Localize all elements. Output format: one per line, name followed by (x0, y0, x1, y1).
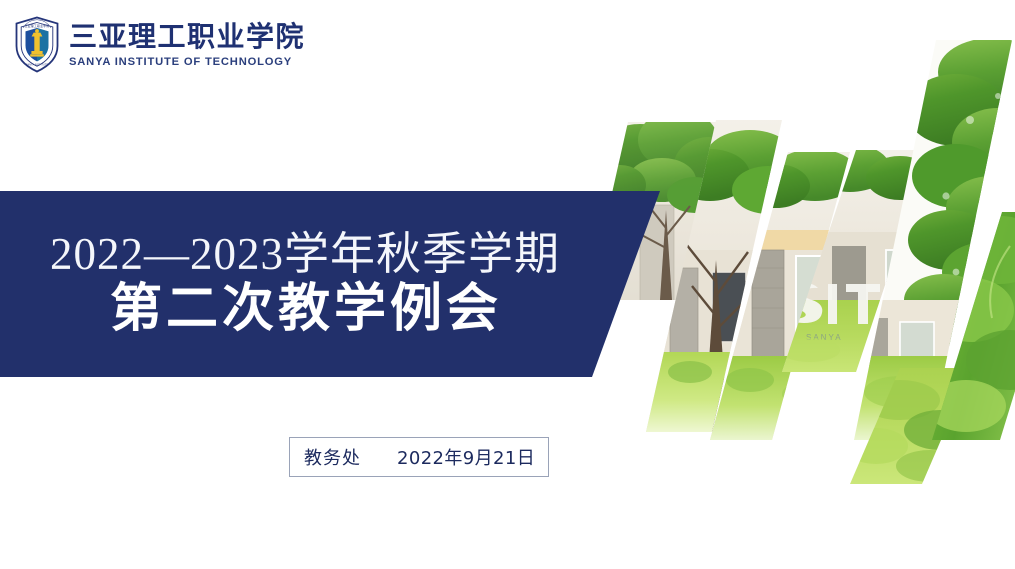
collage-slice-6 (840, 360, 990, 490)
collage-slice-3 (700, 140, 874, 450)
svg-text:SANYA INSTITUTE: SANYA INSTITUTE (26, 64, 49, 67)
collage-slice-4: SANYA (770, 140, 950, 380)
title-line-1: 2022—2023学年秋季学期 (50, 229, 560, 279)
presentation-slide: SANYA (0, 0, 1015, 569)
svg-text:SANYA: SANYA (806, 333, 843, 342)
title-banner: 2022—2023学年秋季学期 第二次教学例会 (0, 191, 700, 377)
title-line-2: 第二次教学例会 (110, 281, 502, 339)
brand-name-en: SANYA INSTITUTE OF TECHNOLOGY (69, 57, 305, 68)
collage-slice-7 (920, 200, 1015, 450)
svg-text:三亚理工职业学院: 三亚理工职业学院 (25, 23, 50, 28)
date-label: 2022年9月21日 (397, 444, 535, 470)
footer-info-box: 教务处 2022年9月21日 (289, 437, 549, 477)
sit-sculpture (788, 283, 880, 324)
shield-emblem-icon: 三亚理工职业学院 SANYA INSTITUTE (14, 16, 60, 73)
title-text-block: 2022—2023学年秋季学期 第二次教学例会 (0, 191, 640, 377)
brand-name-cn: 三亚理工职业学院 (69, 23, 305, 51)
department-label: 教务处 (304, 444, 361, 470)
collage-slice-5 (840, 30, 1015, 450)
brand-name-block: 三亚理工职业学院 SANYA INSTITUTE OF TECHNOLOGY (69, 21, 305, 68)
brand-logo-lockup: 三亚理工职业学院 SANYA INSTITUTE 三亚理工职业学院 SANYA … (14, 16, 305, 73)
